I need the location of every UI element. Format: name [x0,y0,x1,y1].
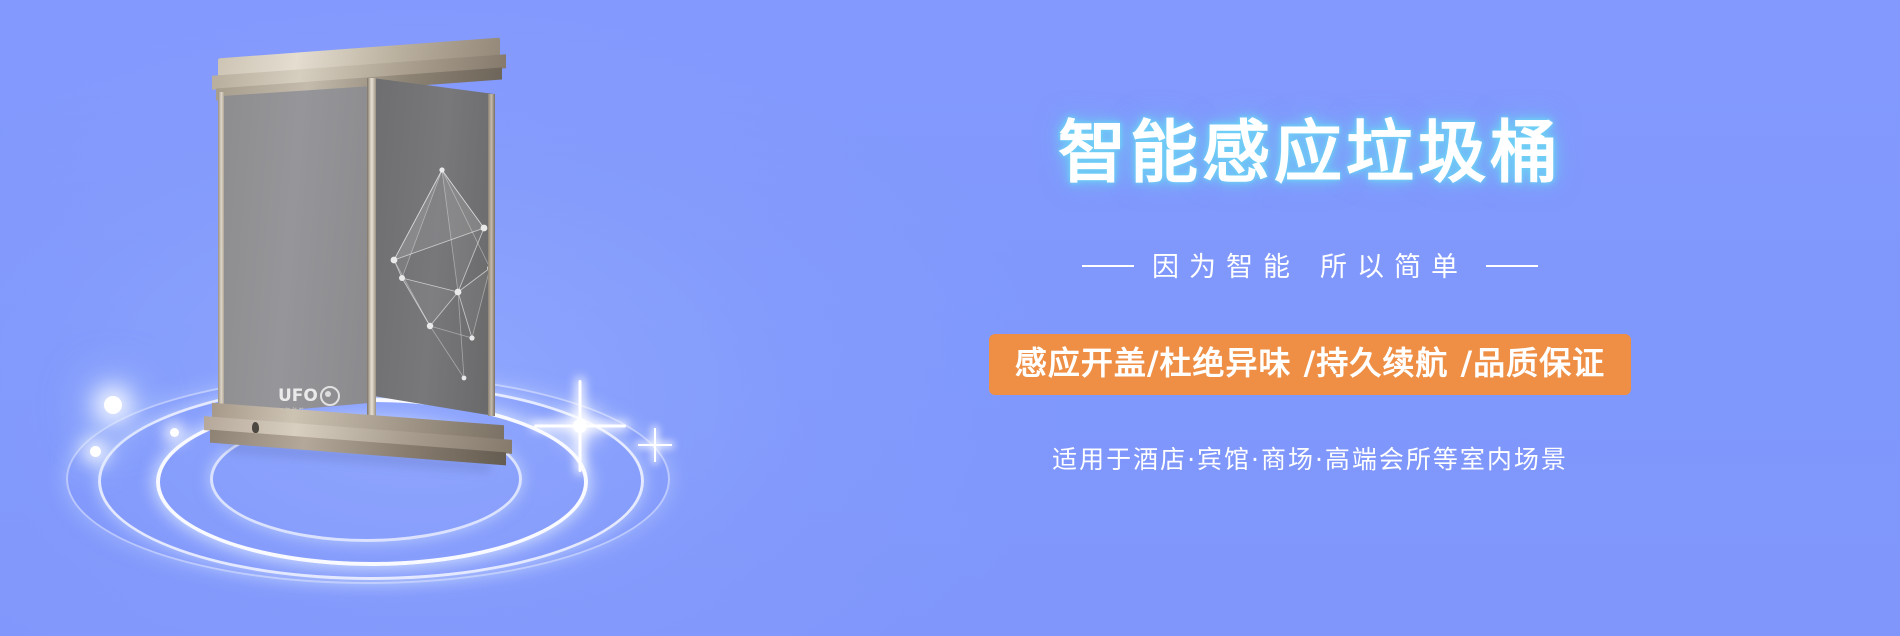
brand-orb-icon [320,386,340,406]
bin-front-panel: UFO 智能科技 INTELLIGENT SENSOR TRASH CAN [222,86,372,416]
glow-dot-medium-icon [90,446,101,457]
banner-copy: 智能感应垃圾桶 因为智能所以简单 感应开盖/杜绝异味 /持久续航 /品质保证 适… [880,0,1840,636]
subline-rule-left [1082,265,1134,267]
product-image: UFO 智能科技 INTELLIGENT SENSOR TRASH CAN [60,24,720,624]
product-promo-banner: UFO 智能科技 INTELLIGENT SENSOR TRASH CAN [0,0,1900,636]
brand-logo-row: UFO [278,386,362,406]
feature-badge-row: 感应开盖/杜绝异味 /持久续航 /品质保证 [880,334,1740,395]
glow-dot-small-icon [170,428,179,437]
sparkle-core [573,419,587,433]
smart-trash-bin: UFO 智能科技 INTELLIGENT SENSOR TRASH CAN [200,48,520,468]
banner-headline: 智能感应垃圾桶 [880,120,1740,188]
network-graphic-icon [372,78,494,416]
glow-dot-large-icon [104,396,122,414]
sparkle-star-icon [534,380,626,472]
subline-rule-right [1486,265,1538,267]
bin-lock-keyhole-icon [252,422,259,434]
banner-subline: 因为智能所以简单 [880,245,1740,284]
subline-part-two: 所以简单 [1320,252,1468,283]
feature-badge: 感应开盖/杜绝异味 /持久续航 /品质保证 [989,334,1631,395]
banner-tagline: 适用于酒店·宾馆·商场·高端会所等室内场景 [880,440,1740,476]
bin-side-panel [372,78,494,416]
bin-corner-pillar [367,78,376,420]
brand-wordmark: UFO [278,388,318,405]
sparkle-star-small-icon [638,428,672,462]
bin-right-edge [488,94,495,416]
subline-part-one: 因为智能 [1152,252,1300,283]
bin-left-edge [218,92,224,418]
